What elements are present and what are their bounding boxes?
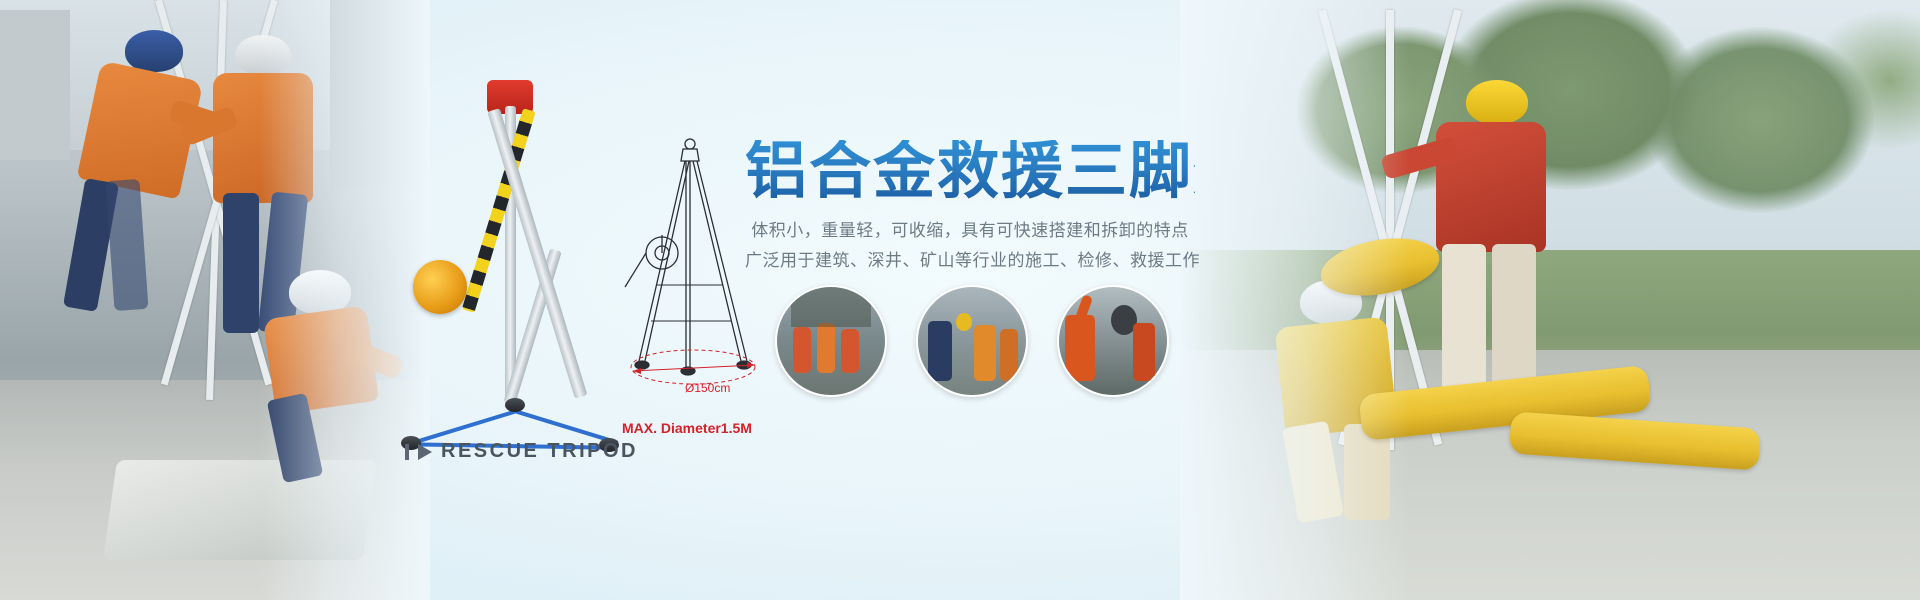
- product-caption: RESCUE TRIPOD: [405, 440, 638, 463]
- thumb-rescue-scene-3[interactable]: [1057, 285, 1169, 397]
- thumb2-worker-1: [928, 321, 952, 381]
- subtitle-line-1: 体积小，重量轻，可收缩，具有可快速搭建和拆卸的特点: [745, 216, 1195, 246]
- product-banner: RESCUE TRIPOD: [0, 0, 1920, 600]
- caption-bar-icon: [405, 444, 409, 460]
- right-photo-collage: [1180, 0, 1920, 600]
- product-tripod-photo: [395, 80, 625, 460]
- thumb3-worker-2: [1133, 323, 1155, 381]
- page-title: 铝合金救援三脚架: [745, 140, 1195, 202]
- thumb1-background: [791, 287, 871, 327]
- left-photo-collage: [0, 0, 430, 600]
- diameter-label: Ø150cm: [685, 381, 730, 395]
- max-diameter-label: MAX. Diameter1.5M: [622, 420, 752, 436]
- thumb3-worker-1: [1065, 315, 1095, 381]
- worker-leg-2: [106, 179, 149, 311]
- thumb2-worker-3: [1000, 329, 1018, 381]
- play-triangle-icon: [418, 444, 432, 460]
- line-head: [681, 149, 699, 161]
- thumbnail-row: [775, 285, 1169, 397]
- tripod-foot-2: [505, 398, 525, 412]
- thumb2-worker-2: [974, 325, 996, 381]
- thumb-rescue-scene-1[interactable]: [775, 285, 887, 397]
- thumb-rescue-scene-2[interactable]: [916, 285, 1028, 397]
- product-caption-text: RESCUE TRIPOD: [441, 440, 638, 463]
- thumb1-worker-3: [841, 329, 859, 373]
- worker-leg-1: [1442, 244, 1486, 394]
- thumb2-helmet-icon: [956, 313, 972, 331]
- banner-text-block: 铝合金救援三脚架 体积小，重量轻，可收缩，具有可快速搭建和拆卸的特点 广泛用于建…: [745, 140, 1195, 276]
- right-photo-fade: [1180, 0, 1410, 600]
- worker-leg-2: [1492, 244, 1536, 394]
- thumb1-worker-2: [817, 323, 835, 373]
- helmet-icon: [1466, 80, 1528, 124]
- subtitle-line-2: 广泛用于建筑、深井、矿山等行业的施工、检修、救援工作: [745, 246, 1195, 276]
- thumb1-worker-1: [793, 327, 811, 373]
- tripod-leg-left: [487, 108, 587, 399]
- tripod-winch: [413, 260, 467, 314]
